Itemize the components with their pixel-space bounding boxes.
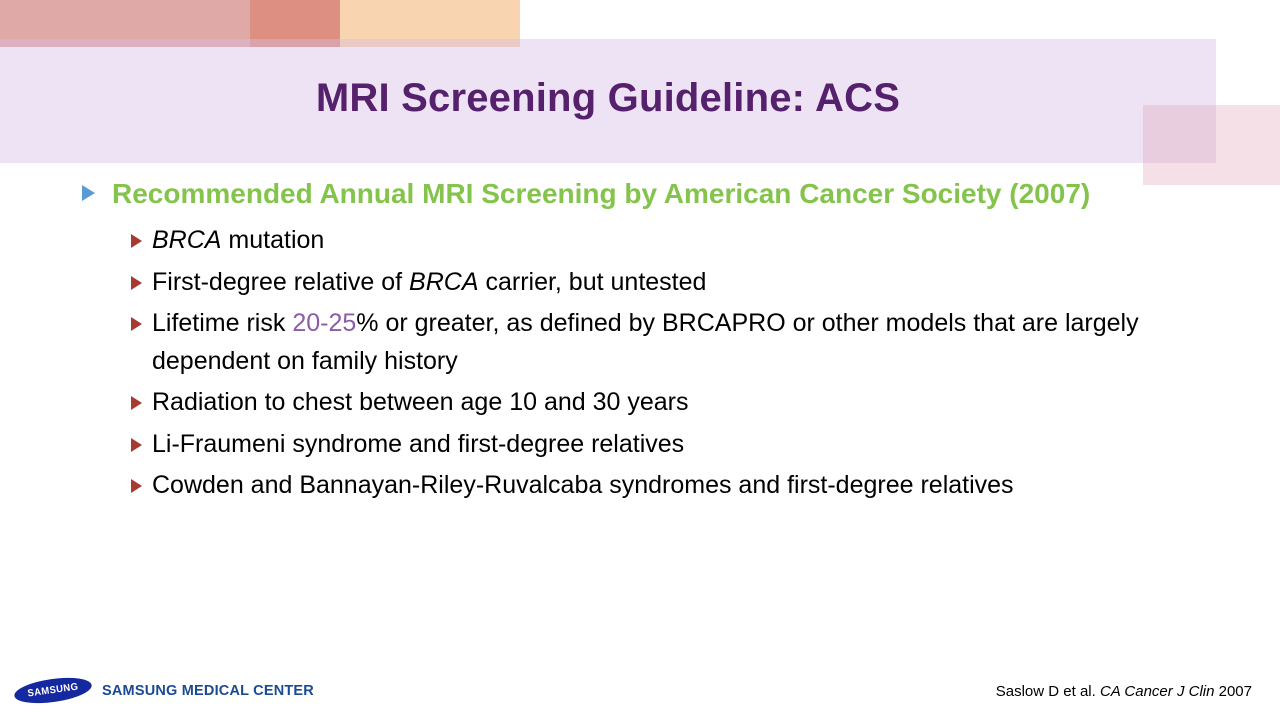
bullet-item-label: Cowden and Bannayan-Riley-Ruvalcaba synd… (152, 471, 1014, 499)
samsung-medical-center-logo: SAMSUNG SAMSUNG MEDICAL CENTER (14, 679, 314, 702)
emphasized-text: BRCA (409, 268, 478, 296)
triangle-bullet-icon (131, 396, 142, 410)
bullet-level1-label: Recommended Annual MRI Screening by Amer… (112, 178, 1090, 209)
text-run: carrier, but untested (479, 268, 707, 296)
text-run: mutation (221, 226, 324, 254)
bullet-item-li-fraumeni: Li-Fraumeni syndrome and first-degree re… (0, 426, 1280, 464)
bullet-item-label: Li-Fraumeni syndrome and first-degree re… (152, 430, 684, 458)
citation-reference: Saslow D et al. CA Cancer J Clin 2007 (996, 683, 1252, 700)
triangle-bullet-icon (131, 234, 142, 248)
triangle-bullet-icon (82, 185, 95, 201)
bullet-item-label: First-degree relative of BRCA carrier, b… (152, 268, 706, 296)
bullet-item-brca-mutation: BRCA mutation (0, 222, 1280, 260)
triangle-bullet-icon (131, 438, 142, 452)
page-title: MRI Screening Guideline: ACS (0, 78, 1216, 118)
text-run: Radiation to chest between age 10 and 30… (152, 388, 689, 416)
text-run: First-degree relative of (152, 268, 409, 296)
slide-canvas: MRI Screening Guideline: ACS Recommended… (0, 0, 1280, 720)
text-run: Cowden and Bannayan-Riley-Ruvalcaba synd… (152, 471, 1014, 499)
bullet-item-label: Lifetime risk 20-25% or greater, as defi… (152, 309, 1139, 375)
bullet-item-first-degree-relative-brca: First-degree relative of BRCA carrier, b… (0, 264, 1280, 302)
bullet-item-radiation-to-chest: Radiation to chest between age 10 and 30… (0, 384, 1280, 422)
bullet-item-cowden-brrs: Cowden and Bannayan-Riley-Ruvalcaba synd… (0, 467, 1280, 505)
bullet-item-label: BRCA mutation (152, 226, 324, 254)
triangle-bullet-icon (131, 479, 142, 493)
text-run: Li-Fraumeni syndrome and first-degree re… (152, 430, 684, 458)
triangle-bullet-icon (131, 317, 142, 331)
text-run: Lifetime risk (152, 309, 292, 337)
slide-body: Recommended Annual MRI Screening by Amer… (0, 172, 1280, 509)
bullet-item-label: Radiation to chest between age 10 and 30… (152, 388, 689, 416)
triangle-bullet-icon (131, 276, 142, 290)
emphasized-text: BRCA (152, 226, 221, 254)
samsung-oval-logo-icon: SAMSUNG (13, 674, 93, 708)
bullet-level1-heading: Recommended Annual MRI Screening by Amer… (0, 172, 1280, 216)
bullet-item-lifetime-risk: Lifetime risk 20-25% or greater, as defi… (0, 305, 1280, 380)
samsung-logo-mark-text: SAMSUNG (27, 681, 79, 699)
text-run: Saslow D et al. (996, 683, 1100, 700)
text-run: 2007 (1214, 683, 1252, 700)
highlighted-value: 20-25 (292, 309, 356, 337)
bullet-level2-list: BRCA mutationFirst-degree relative of BR… (0, 222, 1280, 505)
samsung-medical-center-wordmark: SAMSUNG MEDICAL CENTER (102, 683, 314, 699)
emphasized-text: CA Cancer J Clin (1100, 683, 1214, 700)
